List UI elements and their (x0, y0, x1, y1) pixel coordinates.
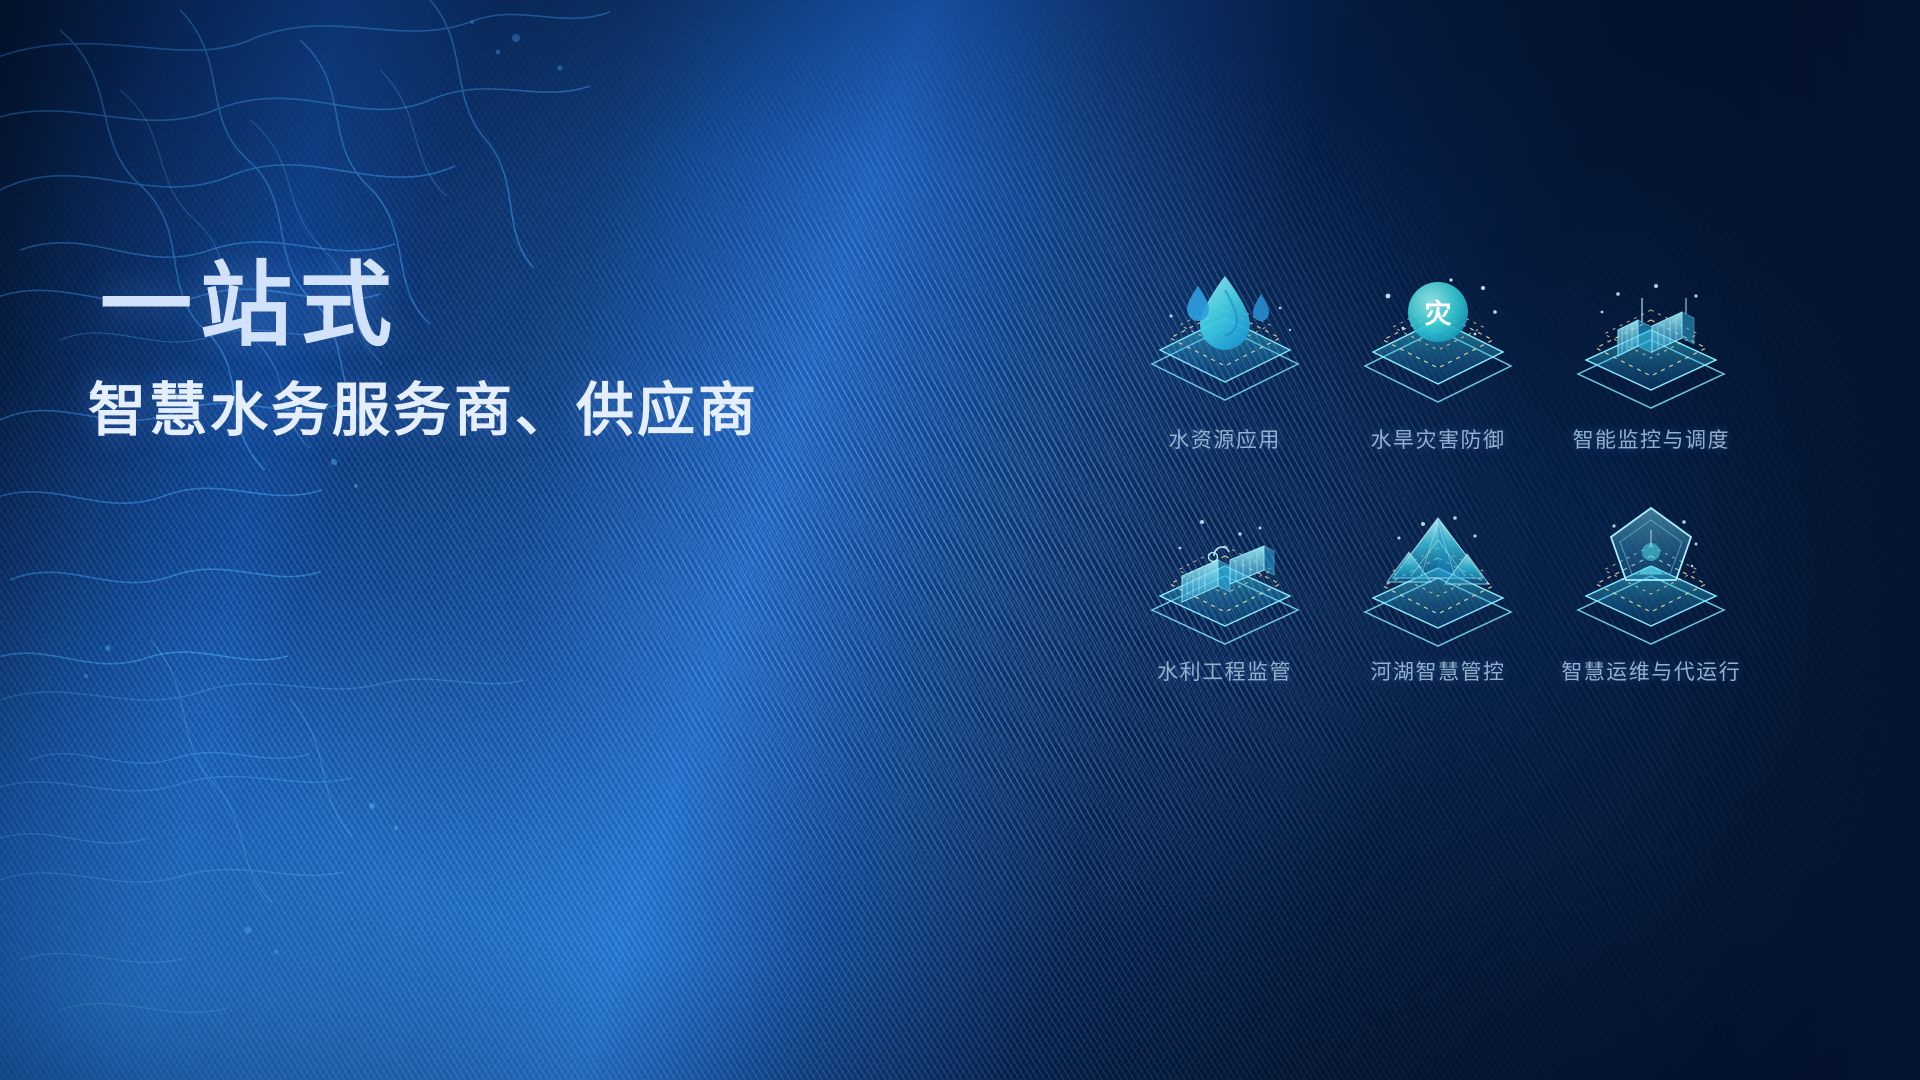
disaster-badge-text: 灾 (1424, 298, 1451, 329)
capability-label: 水旱灾害防御 (1370, 424, 1505, 454)
monitoring-station-platform-icon (1556, 268, 1746, 418)
disaster-sphere-platform-icon: 灾 (1343, 268, 1533, 418)
mountain-river-platform-icon (1343, 500, 1533, 650)
capability-item-river-lake-smart-control[interactable]: 河湖智慧管控 (1331, 500, 1544, 686)
capability-label: 水利工程监管 (1157, 656, 1292, 686)
capability-label: 河湖智慧管控 (1370, 656, 1505, 686)
capability-label: 智能监控与调度 (1573, 424, 1731, 454)
capability-label: 水资源应用 (1168, 424, 1281, 454)
capability-label: 智慧运维与代运行 (1561, 656, 1741, 686)
capability-item-flood-drought-defense[interactable]: 灾 水旱灾害防御 (1331, 268, 1544, 454)
capability-item-smart-ops-and-operation[interactable]: 智慧运维与代运行 (1545, 500, 1758, 686)
capability-item-water-resource[interactable]: 水资源应用 (1118, 268, 1331, 454)
slide-canvas: 一站式 智慧水务服务商、供应商 (0, 0, 1920, 1080)
capability-item-hydraulic-engineering-supervision[interactable]: 水利工程监管 (1118, 500, 1331, 686)
water-droplet-platform-icon (1130, 268, 1320, 418)
page-title: 一站式 (100, 258, 920, 355)
capability-icon-grid: 水资源应用 (1118, 268, 1758, 686)
capability-item-smart-monitoring-dispatch[interactable]: 智能监控与调度 (1545, 268, 1758, 454)
headline-block: 一站式 智慧水务服务商、供应商 (100, 258, 920, 445)
dam-engineering-platform-icon (1130, 500, 1320, 650)
shield-operations-platform-icon (1556, 500, 1746, 650)
page-subtitle: 智慧水务服务商、供应商 (88, 377, 920, 445)
